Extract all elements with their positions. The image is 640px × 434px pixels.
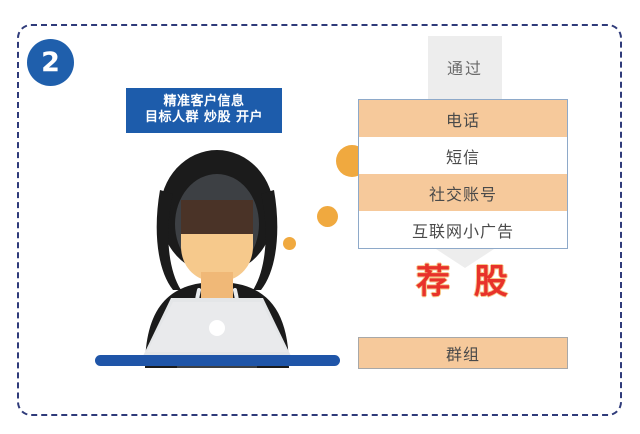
step-number-label: 2 bbox=[41, 49, 60, 76]
channel-label: 电话 bbox=[446, 107, 480, 131]
channel-row[interactable]: 电话 bbox=[359, 100, 567, 137]
group-result-box[interactable]: 群组 bbox=[358, 337, 568, 369]
orange-bubble-small bbox=[283, 237, 296, 250]
step-number-badge: 2 bbox=[27, 39, 74, 86]
channel-row[interactable]: 短信 bbox=[359, 137, 567, 174]
infographic-canvas: 2 精准客户信息 目标人群 炒股 开户 bbox=[0, 0, 640, 434]
caption-line-1: 精准客户信息 bbox=[163, 95, 244, 110]
hooded-hacker-illustration bbox=[95, 150, 340, 368]
orange-bubble-medium bbox=[317, 206, 338, 227]
channel-label: 短信 bbox=[446, 144, 480, 168]
channel-row[interactable]: 社交账号 bbox=[359, 174, 567, 211]
channels-header-label: 通过 bbox=[410, 55, 520, 79]
channel-row[interactable]: 互联网小广告 bbox=[359, 211, 567, 248]
channel-list-table: 电话 短信 社交账号 互联网小广告 bbox=[358, 99, 568, 249]
channel-label: 社交账号 bbox=[429, 181, 497, 205]
caption-line-2: 目标人群 炒股 开户 bbox=[145, 111, 263, 126]
highlight-keyword: 荐 股 bbox=[380, 262, 550, 303]
group-label: 群组 bbox=[446, 341, 480, 365]
channel-label: 互联网小广告 bbox=[412, 218, 514, 242]
target-info-caption-box: 精准客户信息 目标人群 炒股 开户 bbox=[126, 88, 282, 133]
